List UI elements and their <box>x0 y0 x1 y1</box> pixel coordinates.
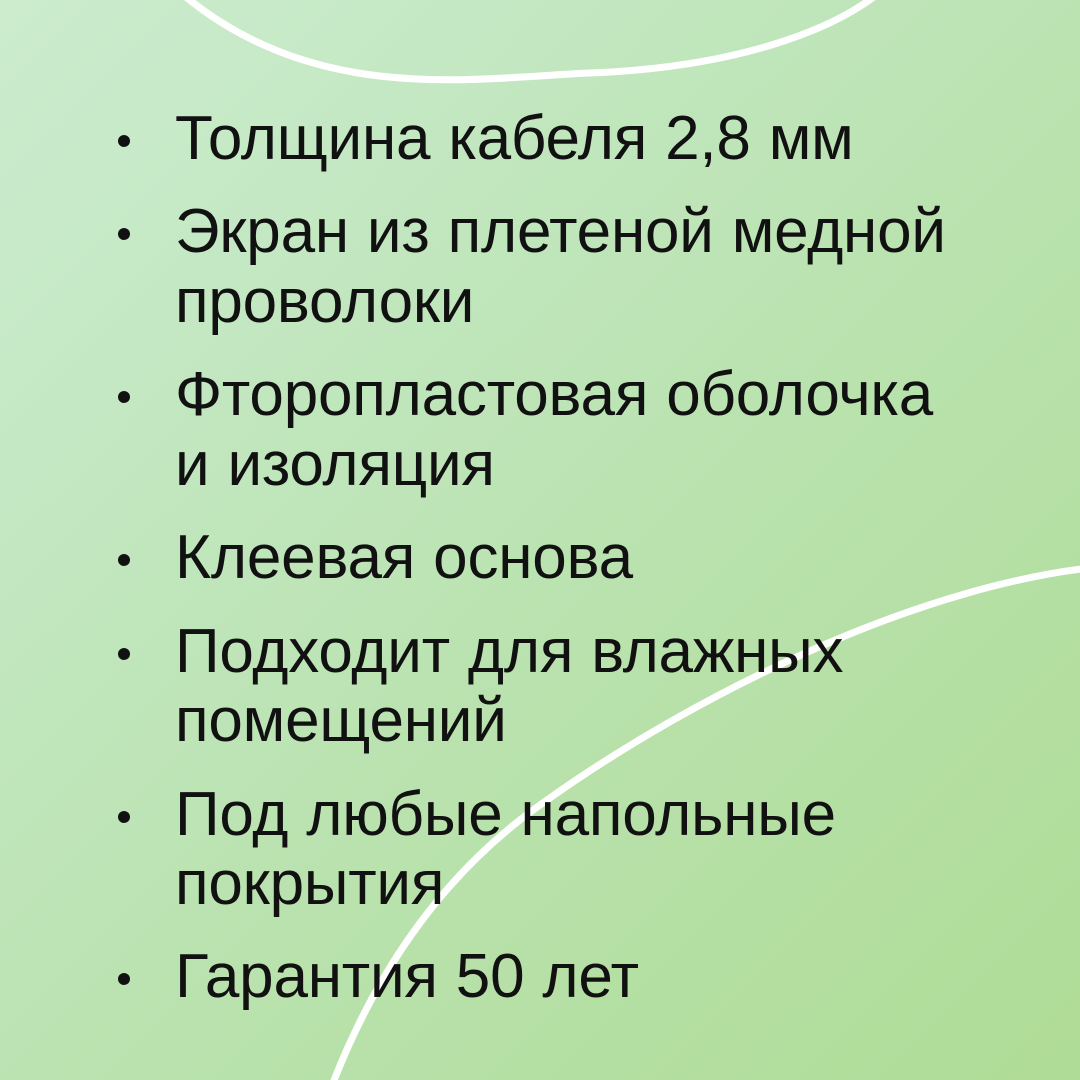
list-item: Толщина кабеля 2,8 мм <box>104 104 984 173</box>
feature-bullet-list: Толщина кабеля 2,8 мм Экран из плетеной … <box>104 104 984 1012</box>
list-item-label: Фторопластовая оболочка и изоляция <box>175 360 984 499</box>
bullet-dot-icon <box>118 811 130 823</box>
list-item: Клеевая основа <box>104 523 984 592</box>
bullet-dot-icon <box>118 648 130 660</box>
slide-canvas: Толщина кабеля 2,8 мм Экран из плетеной … <box>0 0 1080 1080</box>
bullet-dot-icon <box>118 391 130 403</box>
list-item: Подходит для влажных помещений <box>104 617 984 756</box>
list-item: Фторопластовая оболочка и изоляция <box>104 360 984 499</box>
bullet-dot-icon <box>118 135 130 147</box>
bullet-dot-icon <box>118 554 130 566</box>
list-item-label: Гарантия 50 лет <box>175 942 984 1011</box>
list-item-label: Толщина кабеля 2,8 мм <box>175 104 984 173</box>
list-item-label: Подходит для влажных помещений <box>175 617 984 756</box>
bullet-dot-icon <box>118 228 130 240</box>
bullet-dot-icon <box>118 973 130 985</box>
list-item: Гарантия 50 лет <box>104 942 984 1011</box>
list-item: Под любые напольные покрытия <box>104 780 984 919</box>
list-item-label: Клеевая основа <box>175 523 984 592</box>
top-arc <box>160 0 898 80</box>
list-item: Экран из плетеной медной проволоки <box>104 197 984 336</box>
list-item-label: Экран из плетеной медной проволоки <box>175 197 984 336</box>
list-item-label: Под любые напольные покрытия <box>175 780 984 919</box>
